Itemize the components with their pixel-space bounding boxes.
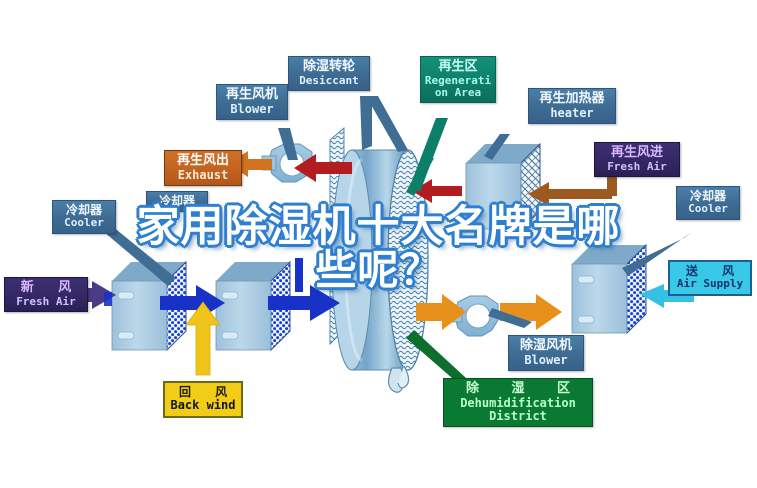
label-dehumidification-district-en1: Dehumidification	[448, 397, 588, 410]
label-dehumidification-district-en2: District	[448, 410, 588, 423]
label-back-wind-en: Back wind	[169, 399, 237, 412]
label-fresh-air-in: 新 风 Fresh Air	[4, 277, 88, 312]
label-desiccant-rotor: 除湿转轮 Desiccant	[288, 56, 370, 91]
label-regeneration-area-en2: on Area	[424, 87, 492, 99]
label-regeneration-heater: 再生加热器 heater	[528, 88, 616, 124]
label-cooler-left-inner-cn: 冷却器	[151, 195, 203, 208]
arrow-blower-out	[500, 294, 562, 330]
label-back-wind-cn: 回 风	[169, 386, 237, 399]
label-regeneration-air-in-en: Fresh Air	[599, 161, 675, 173]
arrow-process-3	[104, 292, 112, 306]
water-drop	[389, 366, 409, 392]
label-dehumidification-district: 除 湿 区 Dehumidification District	[443, 378, 593, 427]
label-regeneration-air-out: 再生风出 Exhaust	[164, 150, 242, 186]
label-dehumidification-blower-cn: 除湿风机	[513, 339, 579, 354]
heater-unit	[466, 144, 540, 229]
label-regeneration-blower-en: Blower	[221, 103, 283, 116]
dehumidifier-schematic-svg: X1	[0, 0, 757, 488]
label-cooler-right-cn: 冷却器	[681, 190, 735, 203]
label-desiccant-rotor-en: Desiccant	[293, 75, 365, 87]
label-regeneration-air-out-cn: 再生风出	[169, 154, 237, 169]
label-back-wind: 回 风 Back wind	[163, 381, 243, 418]
label-regeneration-air-in: 再生风进 Fresh Air	[594, 142, 680, 177]
label-regeneration-area: 再生区 Regenerati on Area	[420, 56, 496, 103]
label-cooler-right-en: Cooler	[681, 203, 735, 215]
label-air-supply-cn: 送 风	[674, 265, 746, 278]
label-desiccant-rotor-cn: 除湿转轮	[293, 60, 365, 75]
label-regeneration-air-in-cn: 再生风进	[599, 146, 675, 161]
label-cooler-left-upper: 冷却器 Cooler	[52, 200, 116, 234]
arrow-down-to-rotor	[295, 258, 303, 292]
label-cooler-left-upper-cn: 冷却器	[57, 204, 111, 217]
label-fresh-air-in-cn: 新 风	[9, 281, 83, 296]
label-dehumidification-blower-en: Blower	[513, 354, 579, 367]
arrow-back-wind-up	[186, 302, 220, 375]
label-air-supply-en: Air Supply	[674, 278, 746, 290]
label-regeneration-blower: 再生风机 Blower	[216, 84, 288, 120]
watermark-text: X1	[378, 320, 391, 333]
label-fresh-air-in-en: Fresh Air	[9, 296, 83, 308]
label-cooler-left-inner: 冷却器	[146, 191, 208, 212]
label-regeneration-area-cn: 再生区	[424, 60, 492, 75]
label-cooler-right: 冷却器 Cooler	[676, 186, 740, 220]
label-regeneration-air-out-en: Exhaust	[169, 169, 237, 182]
label-dehumidification-district-cn: 除 湿 区	[448, 382, 588, 397]
label-regeneration-heater-en: heater	[533, 107, 611, 120]
cooler-unit-3	[572, 245, 646, 333]
label-regeneration-blower-cn: 再生风机	[221, 88, 283, 103]
label-regeneration-heater-cn: 再生加热器	[533, 92, 611, 107]
label-regeneration-area-en1: Regenerati	[424, 75, 492, 87]
arrow-regen-in-left	[528, 182, 612, 206]
label-cooler-left-upper-en: Cooler	[57, 217, 111, 229]
label-dehumidification-blower: 除湿风机 Blower	[508, 335, 584, 371]
diagram-canvas: X1 家用除湿机十大名牌是哪 些呢？ 再生风机 Blower 除湿转轮 Desi…	[0, 0, 757, 488]
label-air-supply: 送 风 Air Supply	[668, 260, 752, 296]
